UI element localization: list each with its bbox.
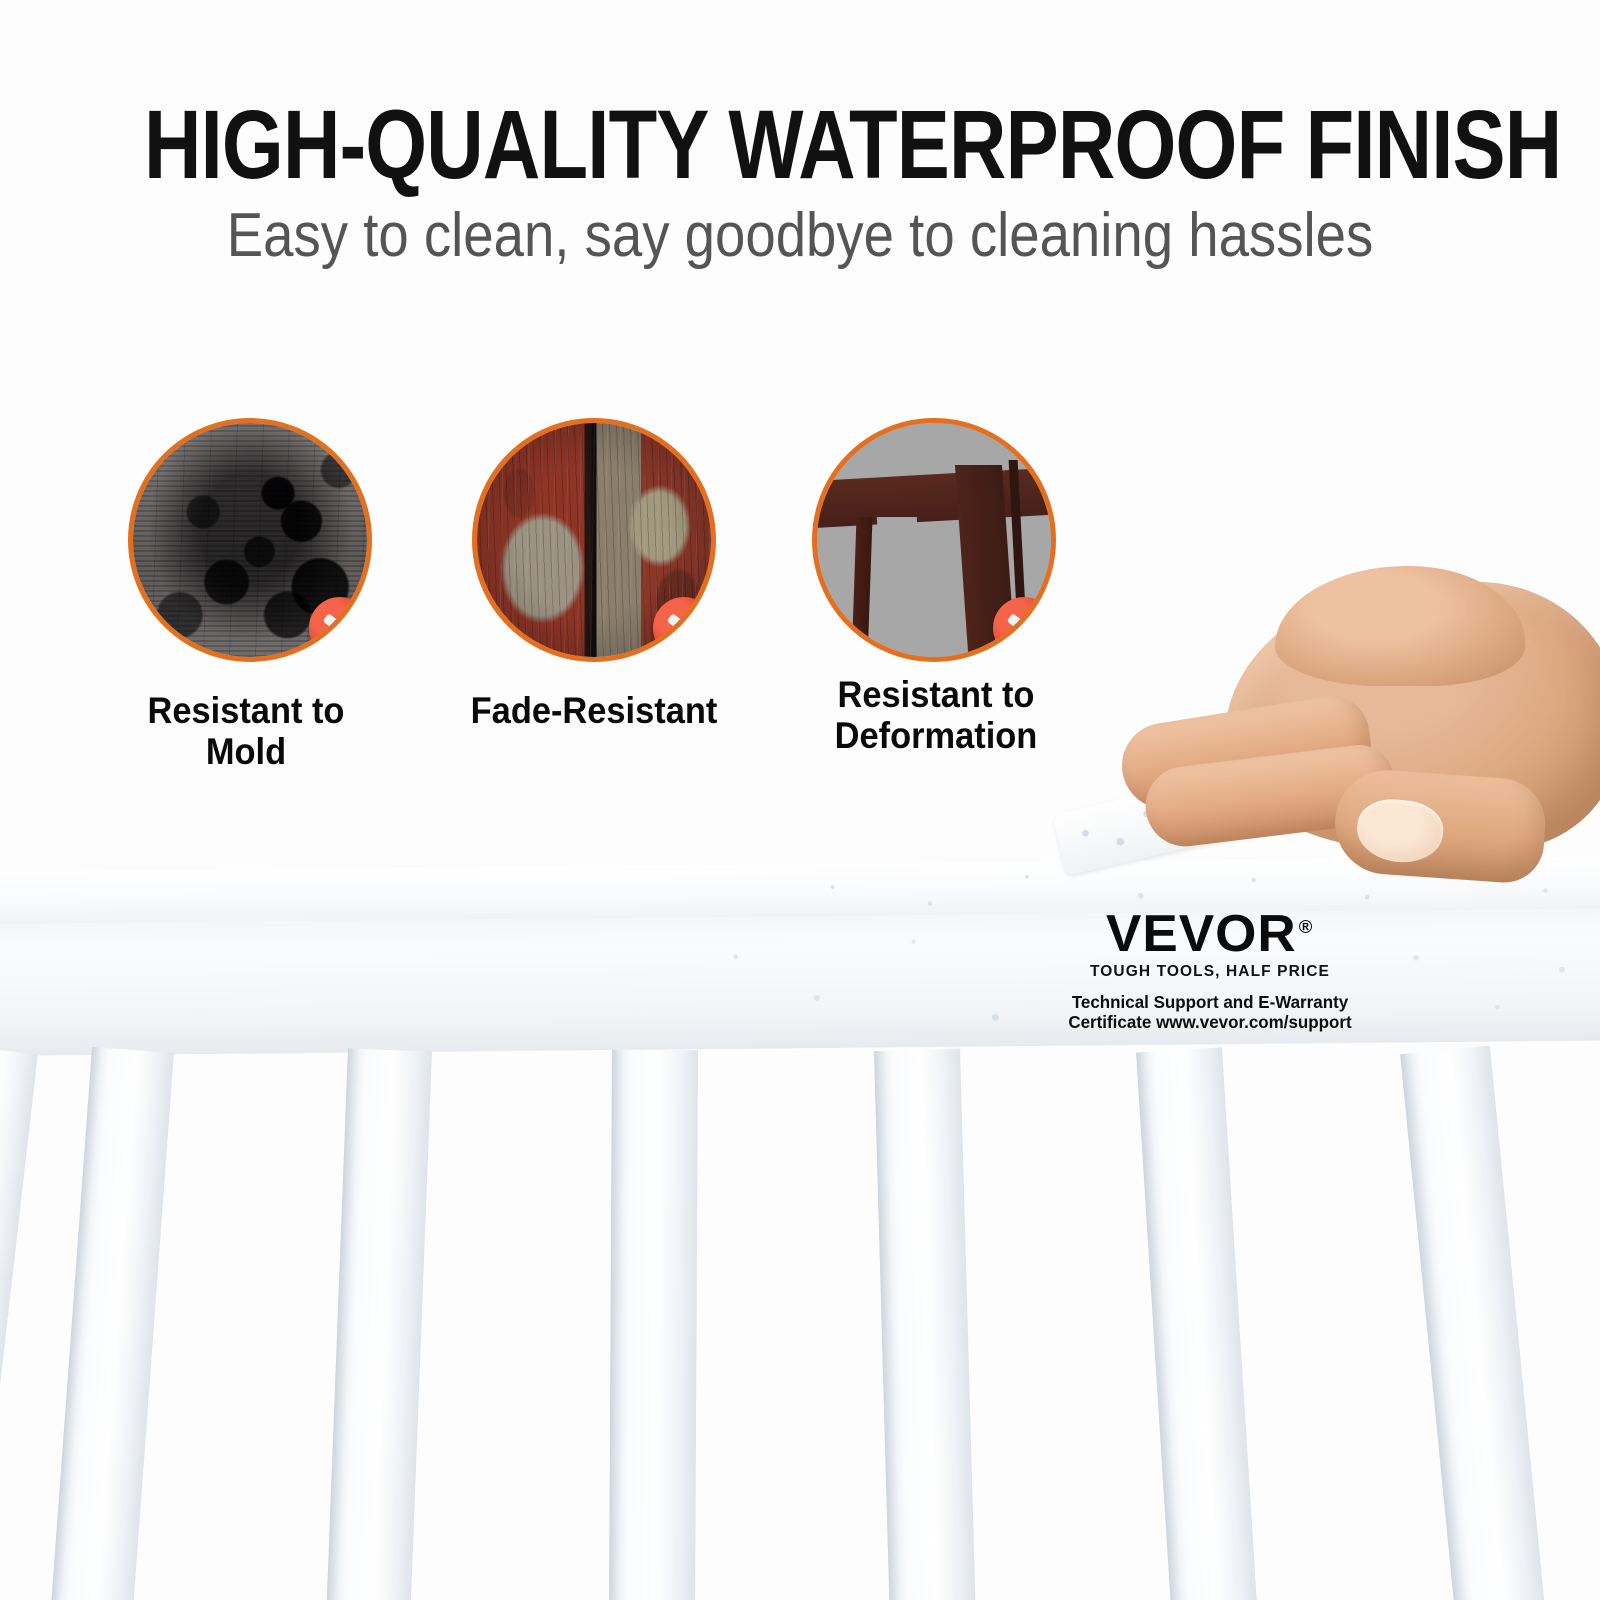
baluster [51, 1047, 174, 1600]
product-feature-banner: HIGH-QUALITY WATERPROOF FINISH Easy to c… [0, 0, 1600, 1600]
feature-item-fade: Fade-Resistant [472, 418, 716, 662]
vevor-logo: VEVOR® [1106, 908, 1313, 960]
baluster [0, 1046, 38, 1600]
baluster [327, 1048, 432, 1600]
page-subtitle: Easy to clean, say goodbye to cleaning h… [96, 205, 1504, 267]
baluster [1400, 1046, 1544, 1600]
feature-label-deformation-line2: Deformation [835, 715, 1038, 756]
support-info: Technical Support and E-Warranty Certifi… [1060, 993, 1361, 1032]
hand-with-cloth [1035, 560, 1600, 890]
baluster [609, 1050, 698, 1600]
feature-item-deformation: Resistant to Deformation [812, 418, 1056, 662]
registered-trademark-icon: ® [1299, 917, 1314, 937]
feature-photo-mold [128, 418, 372, 662]
feature-photo-deformation [812, 418, 1056, 662]
feature-photo-fade [472, 418, 716, 662]
baluster [874, 1049, 976, 1600]
vevor-wordmark: VEVOR [1106, 905, 1297, 963]
feature-item-mold: Resistant to Mold [128, 418, 372, 662]
page-title: HIGH-QUALITY WATERPROOF FINISH [144, 96, 1456, 193]
feature-label-deformation-line1: Resistant to [838, 674, 1035, 715]
feature-label-mold: Resistant to Mold [107, 690, 386, 773]
support-line-2: Certificate www.vevor.com/support [1060, 1013, 1361, 1033]
brand-tagline: TOUGH TOOLS, HALF PRICE [1055, 963, 1365, 981]
support-line-1: Technical Support and E-Warranty [1060, 993, 1361, 1013]
baluster [1136, 1047, 1257, 1600]
rail-balusters [0, 1050, 1600, 1600]
feature-label-deformation: Resistant to Deformation [797, 674, 1076, 757]
feature-label-fade: Fade-Resistant [455, 690, 734, 731]
brand-block: VEVOR® TOUGH TOOLS, HALF PRICE Technical… [1055, 908, 1365, 1032]
